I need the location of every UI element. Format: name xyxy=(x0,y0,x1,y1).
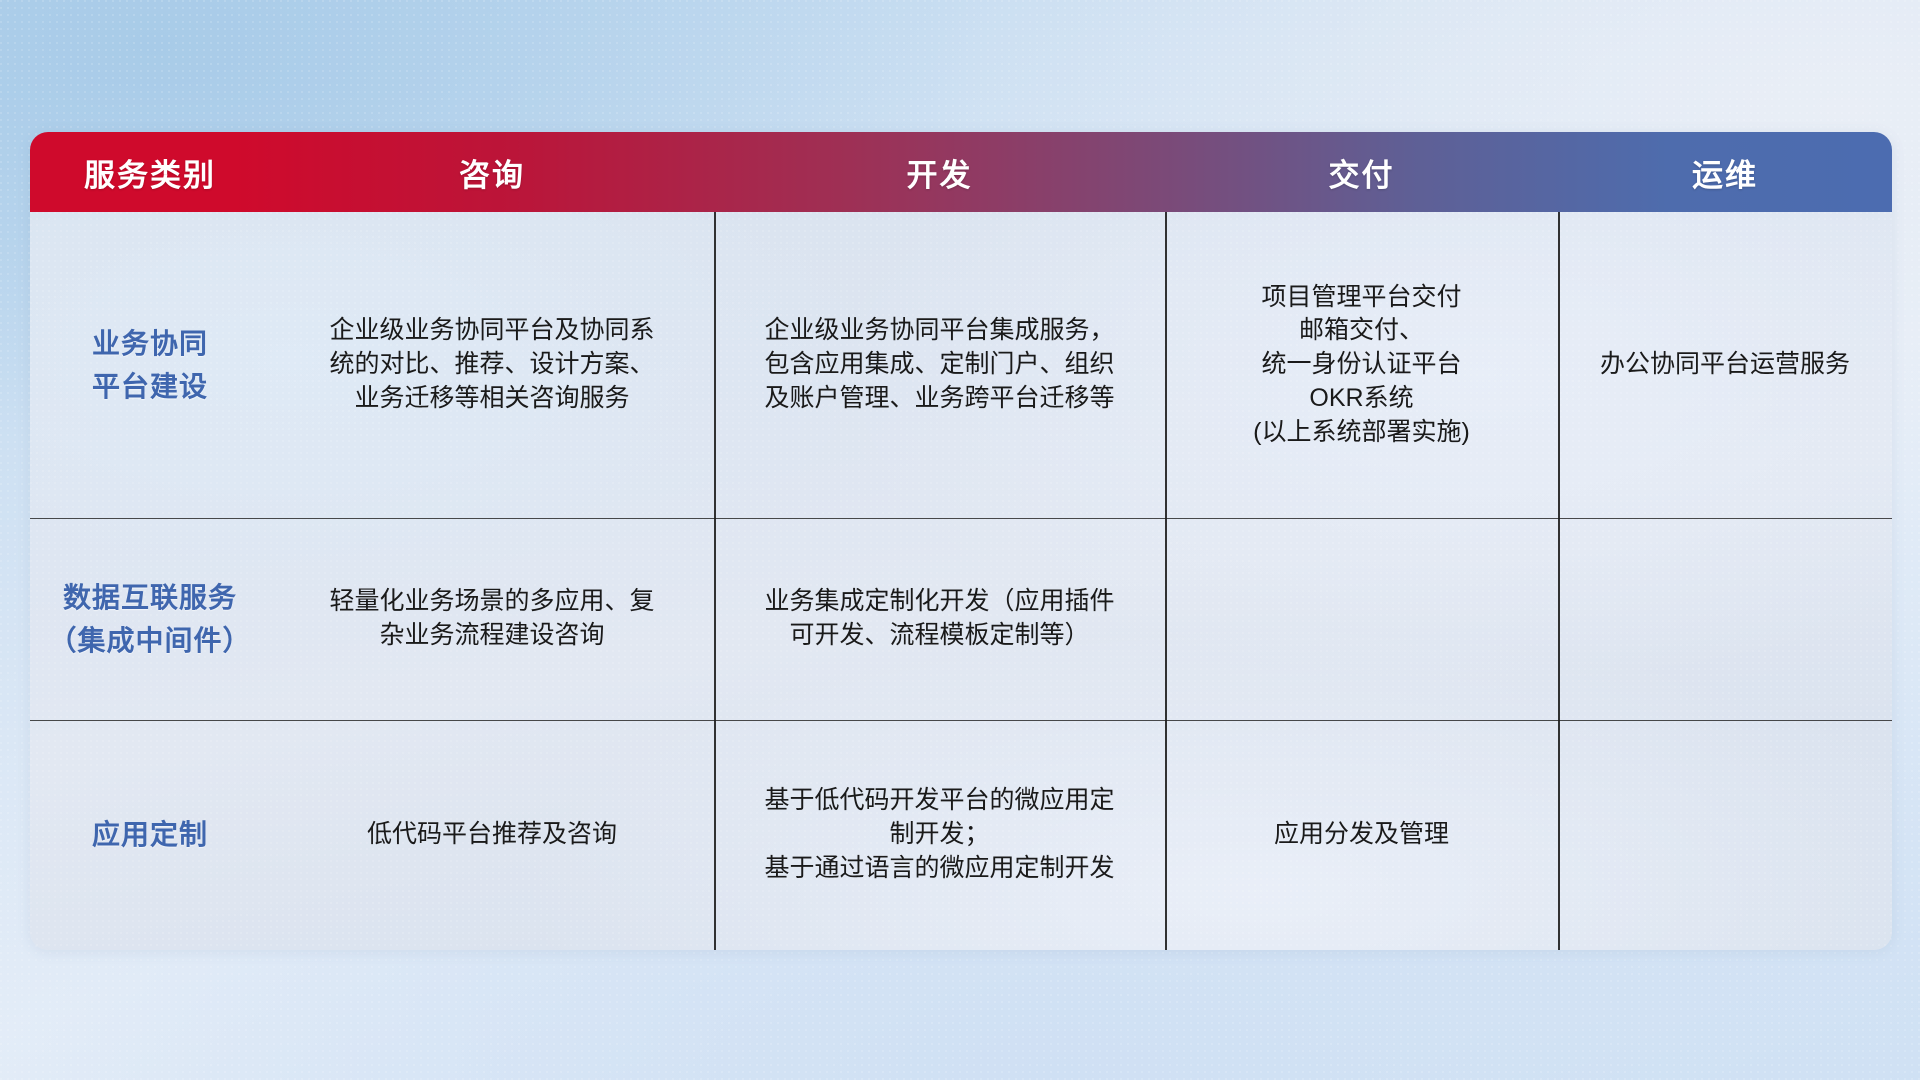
cell-delivery: 项目管理平台交付 邮箱交付、 统一身份认证平台 OKR系统 (以上系统部署实施) xyxy=(1165,212,1558,518)
column-header-development[interactable]: 开发 xyxy=(714,132,1165,212)
column-divider xyxy=(714,212,716,950)
column-header-category[interactable]: 服务类别 xyxy=(30,132,270,212)
cell-category: 业务协同 平台建设 xyxy=(30,212,270,518)
cell-consulting: 企业级业务协同平台及协同系 统的对比、推荐、设计方案、 业务迁移等相关咨询服务 xyxy=(270,212,714,518)
table-body: 业务协同 平台建设 企业级业务协同平台及协同系 统的对比、推荐、设计方案、 业务… xyxy=(30,212,1892,950)
cell-operations xyxy=(1558,720,1892,950)
table-row: 业务协同 平台建设 企业级业务协同平台及协同系 统的对比、推荐、设计方案、 业务… xyxy=(30,212,1892,518)
cell-category: 应用定制 xyxy=(30,720,270,950)
row-divider xyxy=(30,720,1892,721)
column-header-consulting[interactable]: 咨询 xyxy=(270,132,714,212)
cell-delivery: 应用分发及管理 xyxy=(1165,720,1558,950)
cell-category: 数据互联服务 （集成中间件） xyxy=(30,518,270,720)
table-header-row: 服务类别 咨询 开发 交付 运维 xyxy=(30,132,1892,212)
cell-operations: 办公协同平台运营服务 xyxy=(1558,212,1892,518)
service-matrix-table: 服务类别 咨询 开发 交付 运维 业务协同 平台建设 企业级业务协同平台及协同系… xyxy=(30,132,1892,950)
column-divider xyxy=(1558,212,1560,950)
column-divider xyxy=(1165,212,1167,950)
cell-development: 业务集成定制化开发（应用插件 可开发、流程模板定制等） xyxy=(714,518,1165,720)
cell-delivery xyxy=(1165,518,1558,720)
row-divider xyxy=(30,518,1892,519)
table-row: 数据互联服务 （集成中间件） 轻量化业务场景的多应用、复 杂业务流程建设咨询 业… xyxy=(30,518,1892,720)
column-header-delivery[interactable]: 交付 xyxy=(1165,132,1558,212)
column-header-operations[interactable]: 运维 xyxy=(1558,132,1892,212)
cell-consulting: 低代码平台推荐及咨询 xyxy=(270,720,714,950)
cell-development: 基于低代码开发平台的微应用定 制开发； 基于通过语言的微应用定制开发 xyxy=(714,720,1165,950)
cell-operations xyxy=(1558,518,1892,720)
cell-development: 企业级业务协同平台集成服务， 包含应用集成、定制门户、组织 及账户管理、业务跨平… xyxy=(714,212,1165,518)
table-row: 应用定制 低代码平台推荐及咨询 基于低代码开发平台的微应用定 制开发； 基于通过… xyxy=(30,720,1892,950)
cell-consulting: 轻量化业务场景的多应用、复 杂业务流程建设咨询 xyxy=(270,518,714,720)
